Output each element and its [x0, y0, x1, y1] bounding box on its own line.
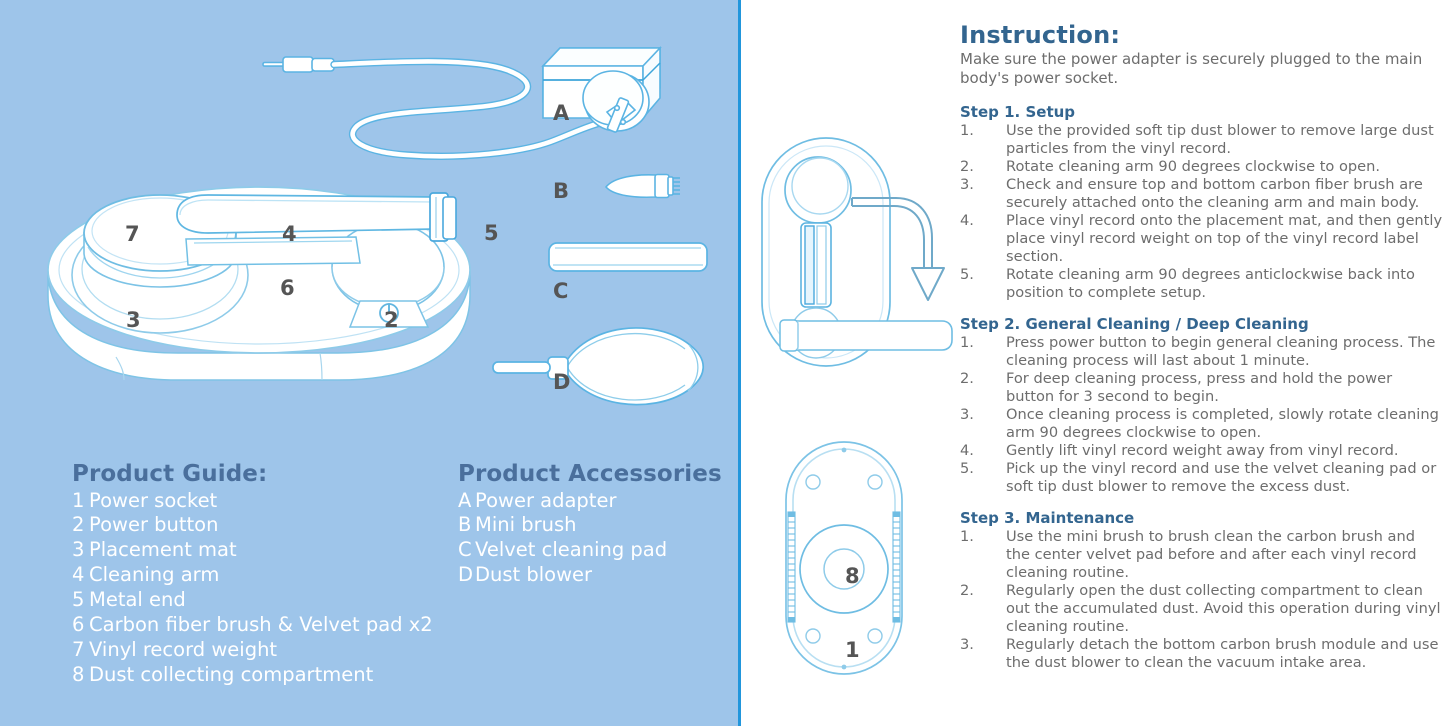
- callout-power-socket: 1: [845, 640, 860, 661]
- step-2-num-4: 4.: [960, 442, 1006, 460]
- callout-velvet-pad: C: [553, 281, 568, 302]
- callout-dust-blower: D: [553, 372, 570, 393]
- product-accessories-block: Product Accessories APower adapter BMini…: [458, 460, 728, 588]
- guide-item-8: 8Dust collecting compartment: [72, 663, 452, 688]
- step-1-num-3: 3.: [960, 176, 1006, 212]
- step-1-num-4: 4.: [960, 212, 1006, 266]
- step-diagram-column: 8 1: [738, 0, 960, 726]
- guide-key-5: 5: [72, 588, 89, 613]
- guide-key-6: 6: [72, 613, 89, 638]
- guide-label-3: Placement mat: [89, 538, 237, 561]
- step-2-text-4: Gently lift vinyl record weight away fro…: [1006, 442, 1443, 460]
- accessory-item-d: DDust blower: [458, 563, 728, 588]
- guide-key-3: 3: [72, 538, 89, 563]
- product-accessories-title: Product Accessories: [458, 460, 728, 489]
- step-1-item-2: 2. Rotate cleaning arm 90 degrees clockw…: [960, 158, 1443, 176]
- step-2-item-2: 2. For deep cleaning process, press and …: [960, 370, 1443, 406]
- manual-page: A B C: [0, 0, 1445, 726]
- step-3-item-3: 3. Regularly detach the bottom carbon br…: [960, 636, 1443, 672]
- accessory-key-c: C: [458, 538, 475, 563]
- accessory-key-b: B: [458, 513, 475, 538]
- step-3-text-1: Use the mini brush to brush clean the ca…: [1006, 528, 1443, 582]
- guide-key-1: 1: [72, 489, 89, 514]
- callout-mini-brush: B: [553, 181, 569, 202]
- guide-item-3: 3Placement mat: [72, 538, 452, 563]
- dust-blower-illustration: [485, 315, 715, 420]
- step-1-item-5: 5. Rotate cleaning arm 90 degrees anticl…: [960, 266, 1443, 302]
- callout-dust-compartment: 8: [845, 566, 860, 587]
- accessory-item-b: BMini brush: [458, 513, 728, 538]
- step-1-num-5: 5.: [960, 266, 1006, 302]
- step-2-num-1: 1.: [960, 334, 1006, 370]
- step-2-item-3: 3. Once cleaning process is completed, s…: [960, 406, 1443, 442]
- step-1-item-1: 1. Use the provided soft tip dust blower…: [960, 122, 1443, 158]
- guide-label-1: Power socket: [89, 489, 217, 512]
- step-2-item-5: 5. Pick up the vinyl record and use the …: [960, 460, 1443, 496]
- product-guide-block: Product Guide: 1Power socket 2Power butt…: [72, 460, 452, 688]
- guide-label-6: Carbon fiber brush & Velvet pad x2: [89, 613, 433, 636]
- instruction-intro: Make sure the power adapter is securely …: [960, 50, 1443, 87]
- guide-label-2: Power button: [89, 513, 218, 536]
- step-2-heading: Step 2. General Cleaning / Deep Cleaning: [960, 315, 1443, 334]
- guide-label-5: Metal end: [89, 588, 186, 611]
- step-3-heading: Step 3. Maintenance: [960, 509, 1443, 528]
- accessory-item-a: APower adapter: [458, 489, 728, 514]
- step-3-num-1: 1.: [960, 528, 1006, 582]
- step-2-num-5: 5.: [960, 460, 1006, 496]
- step-2-num-3: 3.: [960, 406, 1006, 442]
- step-1-num-2: 2.: [960, 158, 1006, 176]
- step-3-num-3: 3.: [960, 636, 1006, 672]
- callout-adapter: A: [553, 103, 569, 124]
- mini-brush-illustration: [600, 168, 710, 208]
- instruction-text-column: Instruction: Make sure the power adapter…: [960, 22, 1445, 722]
- step-3-text-3: Regularly detach the bottom carbon brush…: [1006, 636, 1443, 672]
- product-overview-panel: A B C: [0, 0, 738, 726]
- instruction-title: Instruction:: [960, 22, 1443, 48]
- step-2-text-1: Press power button to begin general clea…: [1006, 334, 1443, 370]
- callout-metal-end: 5: [484, 223, 499, 244]
- accessory-key-d: D: [458, 563, 475, 588]
- guide-item-4: 4Cleaning arm: [72, 563, 452, 588]
- accessory-label-a: Power adapter: [475, 489, 616, 512]
- panel-divider: [738, 0, 741, 726]
- guide-item-2: 2Power button: [72, 513, 452, 538]
- guide-label-7: Vinyl record weight: [89, 638, 277, 661]
- step-2-item-1: 1. Press power button to begin general c…: [960, 334, 1443, 370]
- step-1-text-5: Rotate cleaning arm 90 degrees anticlock…: [1006, 266, 1443, 302]
- step-1-text-1: Use the provided soft tip dust blower to…: [1006, 122, 1443, 158]
- guide-item-1: 1Power socket: [72, 489, 452, 514]
- guide-key-4: 4: [72, 563, 89, 588]
- step-2-text-5: Pick up the vinyl record and use the vel…: [1006, 460, 1443, 496]
- callout-mat: 3: [126, 310, 141, 331]
- step-1-item-4: 4. Place vinyl record onto the placement…: [960, 212, 1443, 266]
- step-2-list: 1. Press power button to begin general c…: [960, 334, 1443, 496]
- callout-arm: 4: [282, 224, 297, 245]
- callout-weight: 7: [125, 224, 140, 245]
- main-device-illustration: [38, 175, 508, 405]
- top-view-rotation-diagram: [756, 128, 956, 378]
- guide-label-8: Dust collecting compartment: [89, 663, 373, 686]
- guide-item-7: 7Vinyl record weight: [72, 638, 452, 663]
- step-3-item-2: 2. Regularly open the dust collecting co…: [960, 582, 1443, 636]
- step-1-text-2: Rotate cleaning arm 90 degrees clockwise…: [1006, 158, 1443, 176]
- accessory-key-a: A: [458, 489, 475, 514]
- guide-key-2: 2: [72, 513, 89, 538]
- step-2-num-2: 2.: [960, 370, 1006, 406]
- step-2-item-4: 4. Gently lift vinyl record weight away …: [960, 442, 1443, 460]
- step-2-text-3: Once cleaning process is completed, slow…: [1006, 406, 1443, 442]
- guide-item-6: 6Carbon fiber brush & Velvet pad x2: [72, 613, 452, 638]
- instruction-panel: 8 1 Instruction: Make sure the power ada…: [738, 0, 1445, 726]
- guide-key-7: 7: [72, 638, 89, 663]
- guide-label-4: Cleaning arm: [89, 563, 219, 586]
- velvet-pad-illustration: [545, 238, 715, 280]
- step-3-num-2: 2.: [960, 582, 1006, 636]
- step-1-item-3: 3. Check and ensure top and bottom carbo…: [960, 176, 1443, 212]
- guide-item-5: 5Metal end: [72, 588, 452, 613]
- accessory-label-d: Dust blower: [475, 563, 592, 586]
- step-2-text-2: For deep cleaning process, press and hol…: [1006, 370, 1443, 406]
- accessory-item-c: CVelvet cleaning pad: [458, 538, 728, 563]
- accessory-label-c: Velvet cleaning pad: [475, 538, 667, 561]
- accessory-label-b: Mini brush: [475, 513, 577, 536]
- step-1-heading: Step 1. Setup: [960, 103, 1443, 122]
- step-3-item-1: 1. Use the mini brush to brush clean the…: [960, 528, 1443, 582]
- step-1-list: 1. Use the provided soft tip dust blower…: [960, 122, 1443, 302]
- step-1-text-4: Place vinyl record onto the placement ma…: [1006, 212, 1443, 266]
- step-3-list: 1. Use the mini brush to brush clean the…: [960, 528, 1443, 672]
- step-3-text-2: Regularly open the dust collecting compa…: [1006, 582, 1443, 636]
- product-guide-title: Product Guide:: [72, 460, 452, 489]
- callout-brush: 6: [280, 278, 295, 299]
- step-1-text-3: Check and ensure top and bottom carbon f…: [1006, 176, 1443, 212]
- callout-power-button: 2: [384, 310, 399, 331]
- step-1-num-1: 1.: [960, 122, 1006, 158]
- guide-key-8: 8: [72, 663, 89, 688]
